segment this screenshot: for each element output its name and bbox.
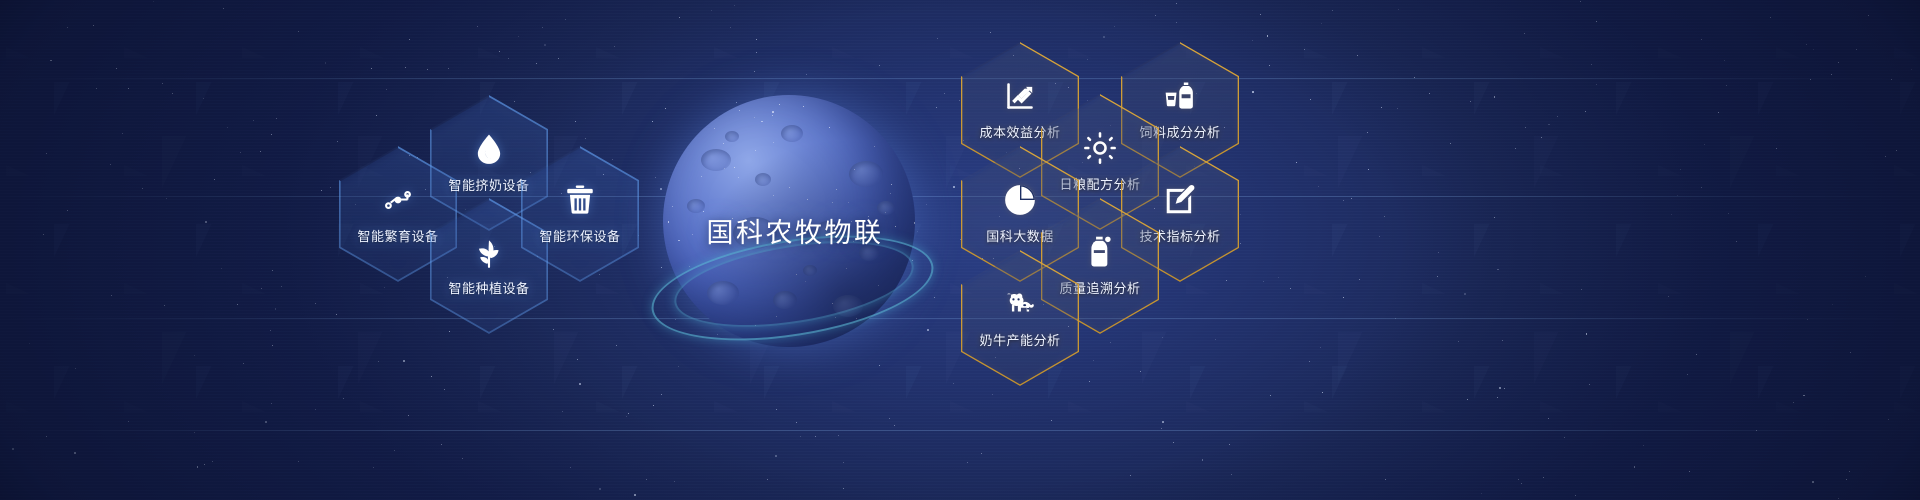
planet-crater [849, 161, 883, 187]
hex-label: 智能繁育设备 [357, 226, 438, 245]
hero-banner: 智能繁育设备智能挤奶设备智能种植设备智能环保设备 国科农牧物联 成本效益分析饲料… [0, 0, 1920, 500]
cow-icon [1003, 287, 1037, 321]
hex-label: 奶牛产能分析 [979, 330, 1060, 349]
background-vignette [0, 0, 1920, 500]
hex-label: 智能环保设备 [539, 226, 620, 245]
trash-bin-icon [563, 183, 597, 217]
center-planet-group: 国科农牧物联 [645, 95, 945, 365]
planet-crater [755, 173, 771, 186]
planet-crater [781, 125, 803, 142]
plant-leaf-icon [472, 235, 506, 269]
chart-trend-icon [1003, 79, 1037, 113]
milk-bottle-icon [1083, 235, 1117, 269]
milk-cup-bottle-icon [1163, 79, 1197, 113]
planet-crater [701, 149, 731, 171]
sun-icon [1083, 131, 1117, 165]
edit-pencil-icon [1163, 183, 1197, 217]
hex-label: 智能挤奶设备 [448, 175, 529, 194]
planet-crater [725, 131, 739, 142]
breeding-node-icon [381, 183, 415, 217]
page-title: 国科农牧物联 [645, 211, 945, 250]
hex-label: 智能种植设备 [448, 278, 529, 297]
water-drop-icon [472, 132, 506, 166]
pie-chart-icon [1003, 183, 1037, 217]
